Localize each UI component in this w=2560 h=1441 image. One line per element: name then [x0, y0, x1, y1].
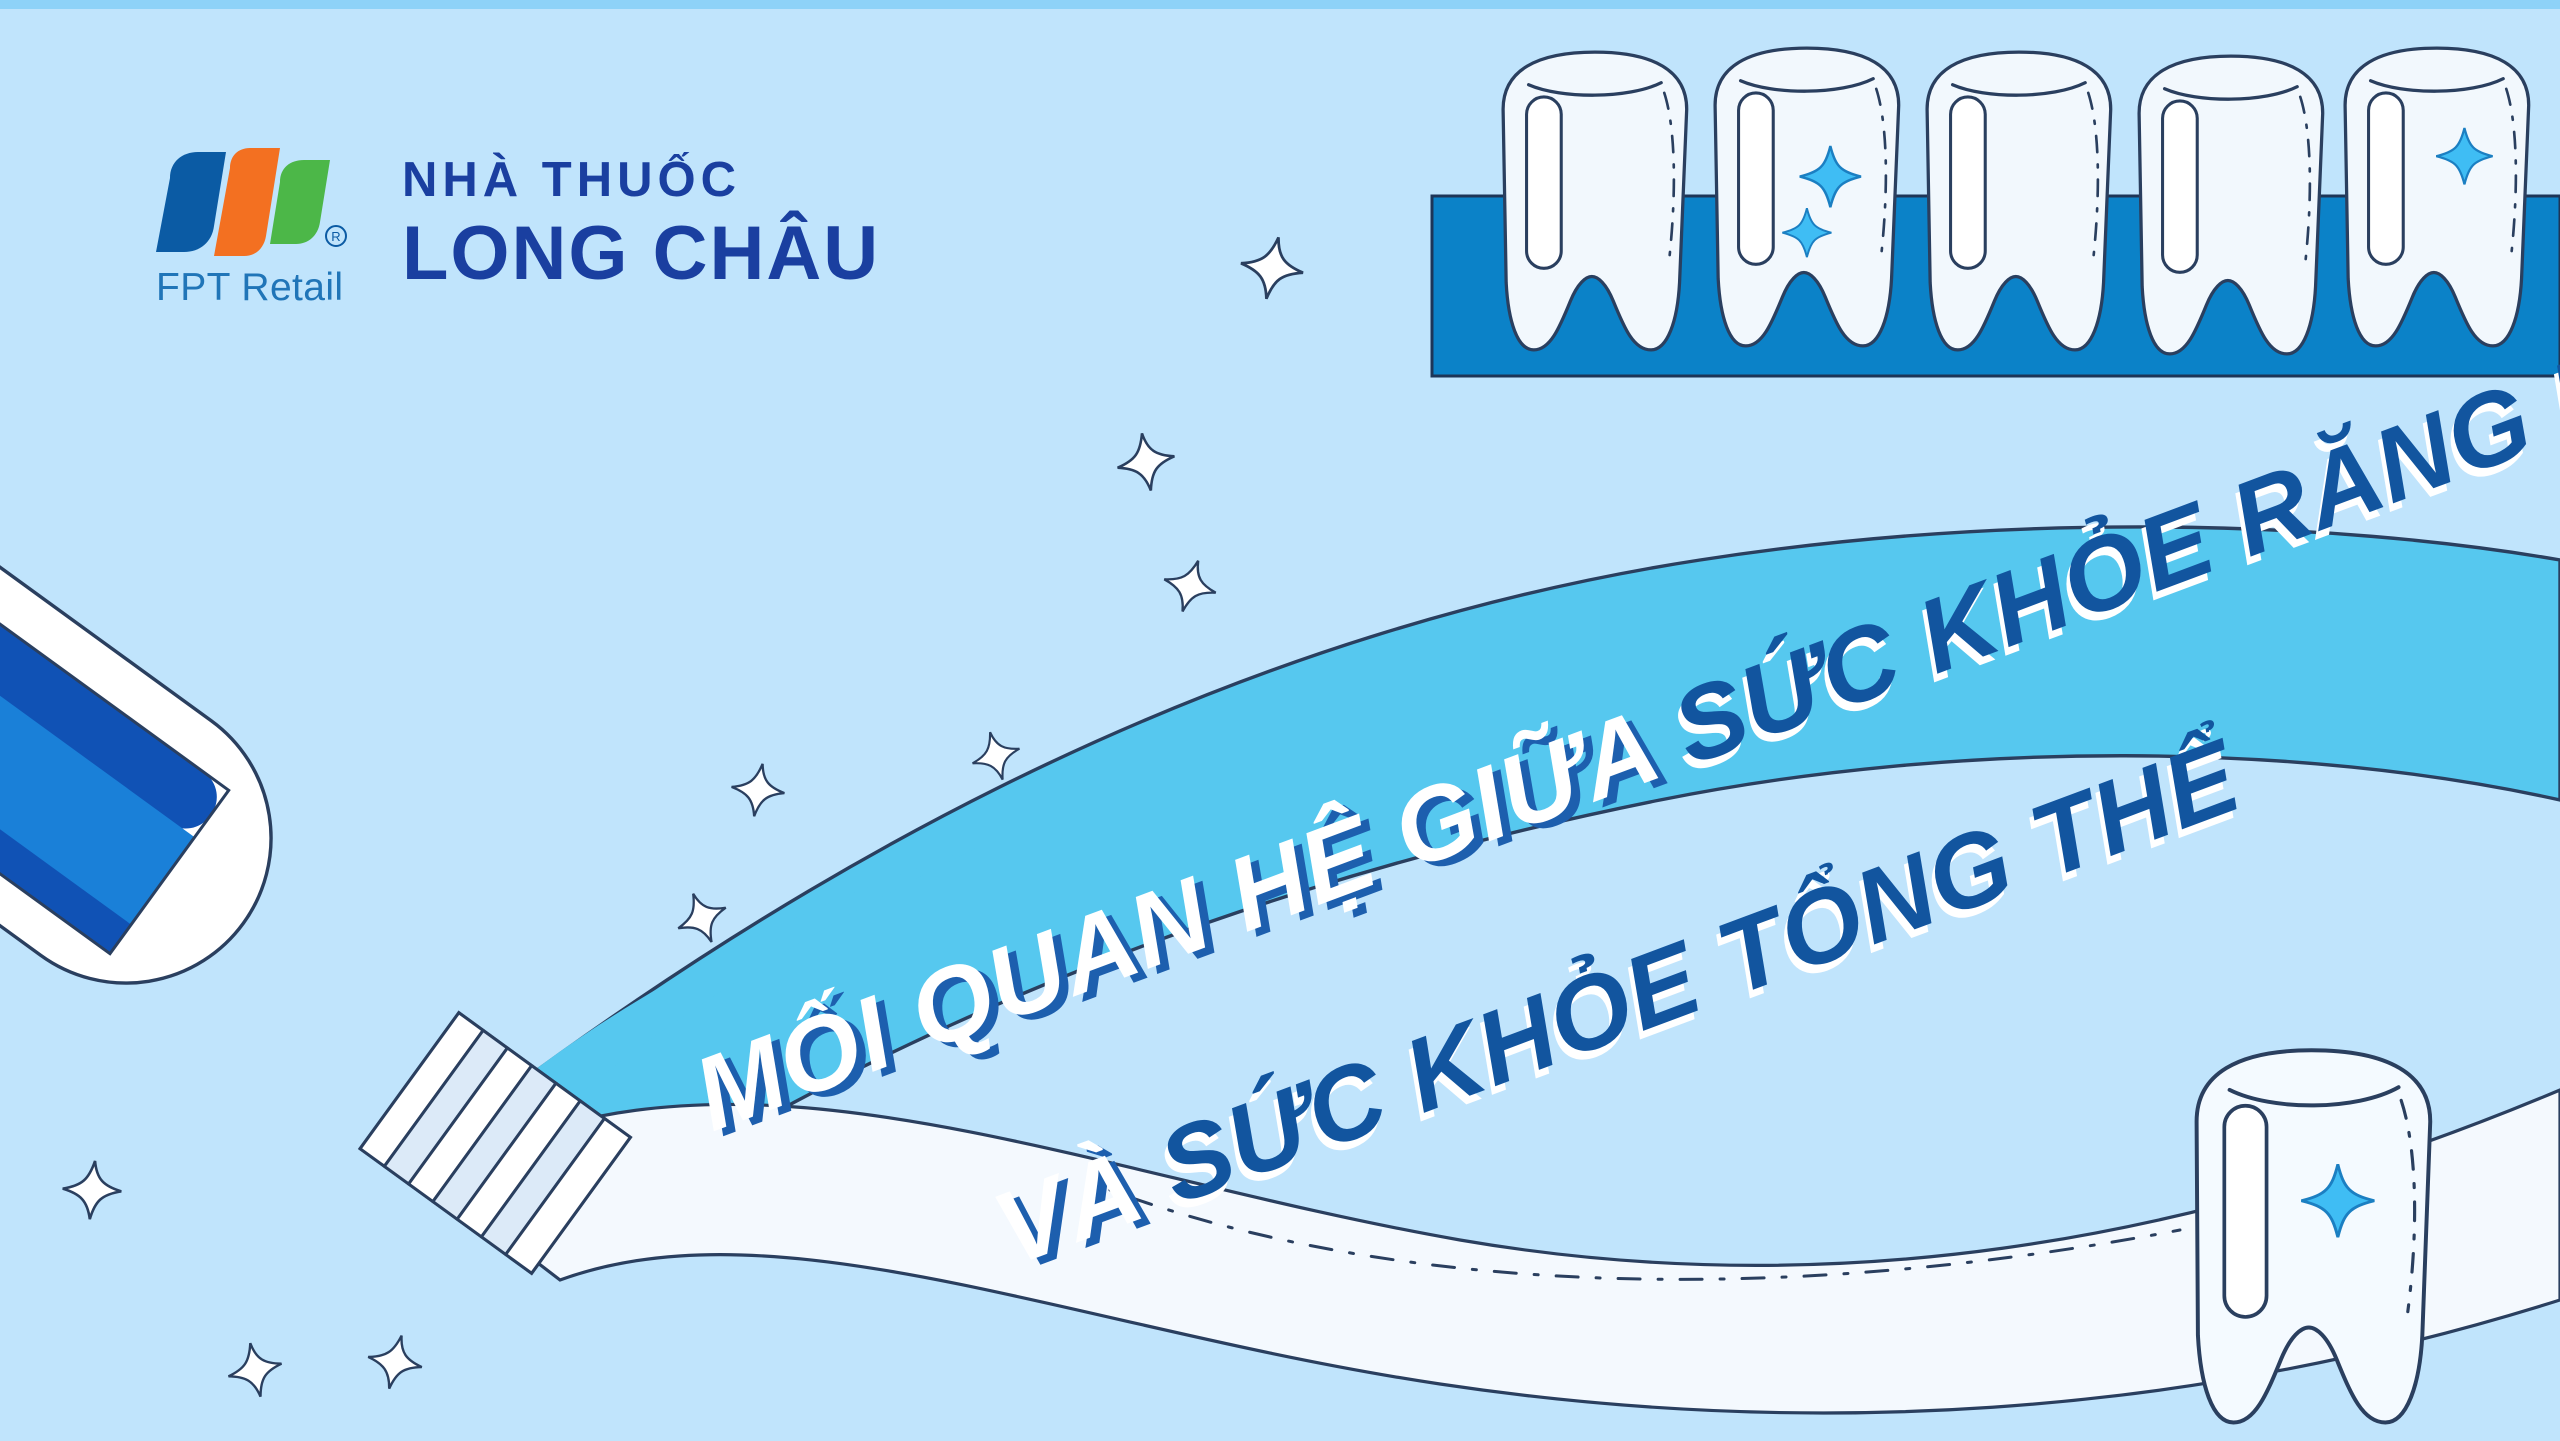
brand-logo-block[interactable]: R FPT Retail NHÀ THUỐC LONG CHÂU — [152, 148, 880, 310]
svg-text:R: R — [331, 229, 340, 244]
brand-line-nha-thuoc: NHÀ THUỐC — [402, 154, 880, 207]
fpt-retail-subtitle: FPT Retail — [152, 266, 348, 310]
fpt-retail-logo-mark: R — [152, 148, 348, 256]
banner-root: R FPT Retail NHÀ THUỐC LONG CHÂU MỐI QUA… — [0, 0, 2560, 1441]
fpt-retail-logo-mark-wrap[interactable]: R FPT Retail — [152, 148, 348, 310]
registered-trademark-icon: R — [326, 226, 346, 246]
big-tooth-group — [2197, 1050, 2431, 1422]
teeth-row-group — [1432, 48, 2560, 376]
brand-line-long-chau: LONG CHÂU — [402, 213, 880, 295]
toothpaste-tube-group — [0, 212, 630, 1273]
tube-body — [0, 212, 329, 1040]
brand-name-lines: NHÀ THUỐC LONG CHÂU — [402, 148, 880, 295]
